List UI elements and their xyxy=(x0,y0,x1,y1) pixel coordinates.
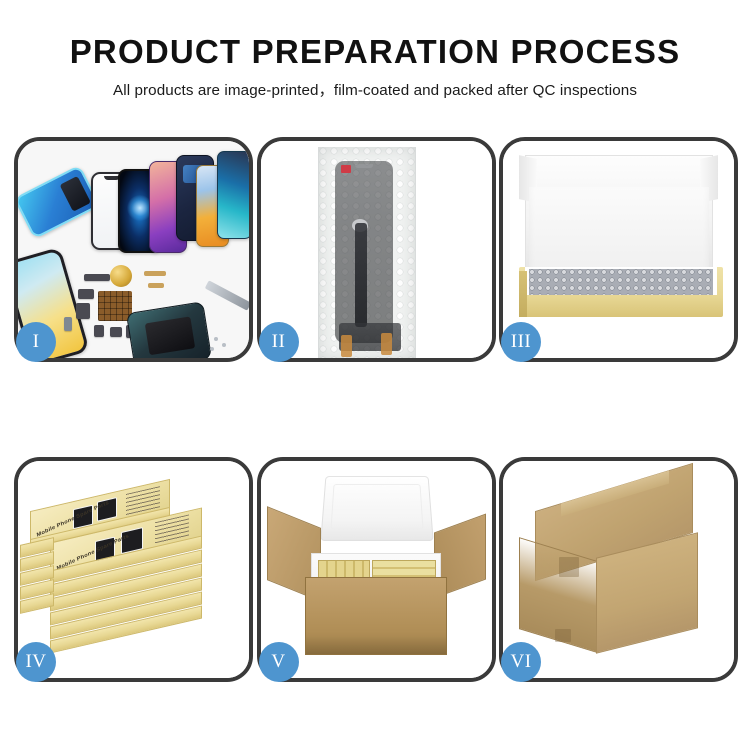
foam-tray-box-illustration xyxy=(503,141,734,358)
part-gold-disc xyxy=(110,265,132,287)
part-screw-1 xyxy=(214,337,218,341)
part-button xyxy=(94,325,104,337)
steps-grid: I II xyxy=(14,137,736,682)
gold-connector-left xyxy=(341,335,352,357)
bubble-wrapped-screen-illustration xyxy=(261,141,492,358)
step-badge-4: IV xyxy=(16,642,56,682)
red-label-sticker xyxy=(341,165,351,173)
bubble-wrap-bag xyxy=(318,147,416,358)
part-screw-2 xyxy=(222,343,226,347)
carton-body xyxy=(305,577,447,655)
step-badge-5: V xyxy=(259,642,299,682)
styrofoam-lid xyxy=(320,476,433,541)
step-panel-5: V xyxy=(257,457,496,682)
tray-left-wall xyxy=(519,271,527,317)
step-badge-3: III xyxy=(501,322,541,362)
carton-handle-cut-bottom xyxy=(555,629,571,642)
product-preparation-infographic: PRODUCT PREPARATION PROCESS All products… xyxy=(0,0,750,750)
part-chip-strip xyxy=(84,274,110,281)
part-connector-1 xyxy=(78,289,94,299)
part-screw-3 xyxy=(210,347,214,351)
carton-with-foam-illustration xyxy=(261,461,492,678)
step-panel-3: III xyxy=(499,137,738,362)
step-image-1 xyxy=(18,141,249,358)
phone-teal xyxy=(217,151,249,239)
step-panel-4: Mobile Phone Spare Parts Mobile Phone Sp… xyxy=(14,457,253,682)
part-metal-bracket xyxy=(64,317,72,331)
step-badge-6: VI xyxy=(501,642,541,682)
step-image-4: Mobile Phone Spare Parts Mobile Phone Sp… xyxy=(18,461,249,678)
carton-handle-cut-top xyxy=(559,557,579,577)
white-foam-sheet xyxy=(529,187,709,279)
part-connector-2 xyxy=(76,303,90,319)
page-title: PRODUCT PREPARATION PROCESS xyxy=(0,32,750,72)
step-panel-6: VI xyxy=(499,457,738,682)
tweezers-tool xyxy=(205,280,249,310)
step-image-6 xyxy=(503,461,734,678)
step-panel-2: II xyxy=(257,137,496,362)
step-image-5 xyxy=(261,461,492,678)
part-speaker xyxy=(110,327,122,337)
gold-connector-right xyxy=(381,333,392,355)
step-badge-1: I xyxy=(16,322,56,362)
step-image-3 xyxy=(503,141,734,358)
sealed-carton-illustration xyxy=(503,461,734,678)
header: PRODUCT PREPARATION PROCESS All products… xyxy=(0,0,750,101)
grey-bubble-packing xyxy=(529,269,713,295)
step-panel-1: I xyxy=(14,137,253,362)
step-badge-2: II xyxy=(259,322,299,362)
part-flex-cable-1 xyxy=(144,271,166,276)
part-flex-cable-2 xyxy=(148,283,164,288)
parts-and-screens-illustration xyxy=(18,141,249,358)
screen-flex-ribbon xyxy=(355,223,367,327)
phone-back-housing xyxy=(126,301,212,358)
page-subtitle: All products are image-printed，film-coat… xyxy=(0,81,750,101)
stacked-boxes-illustration: Mobile Phone Spare Parts Mobile Phone Sp… xyxy=(18,461,249,678)
step-image-2 xyxy=(261,141,492,358)
blue-adhesive-screen xyxy=(18,165,100,240)
